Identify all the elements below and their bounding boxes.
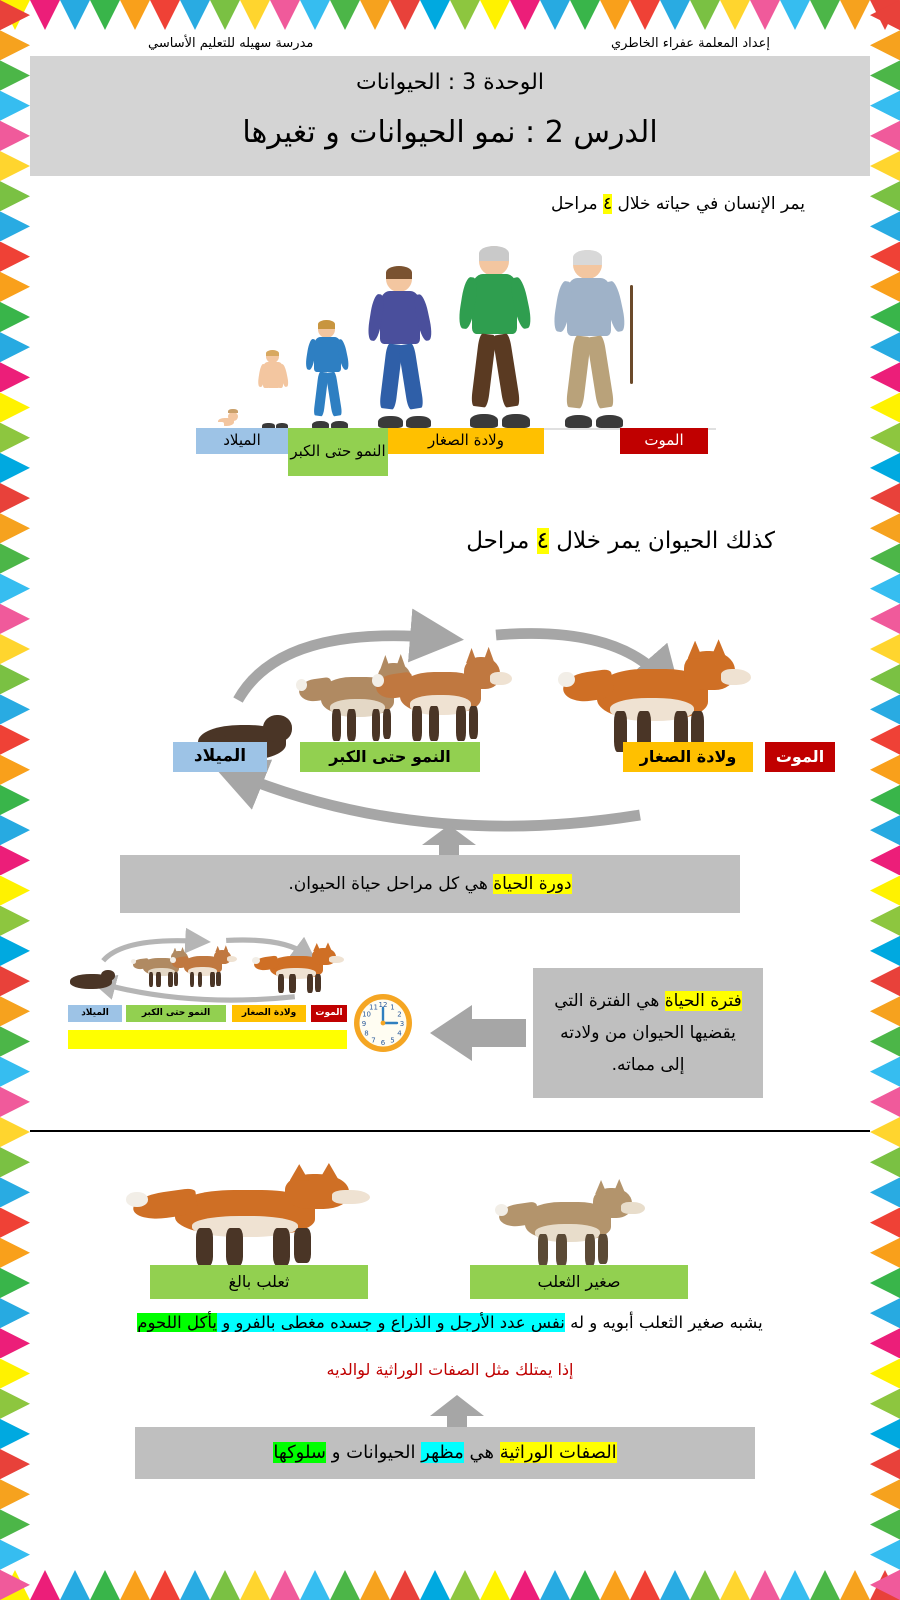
border-triangle: [870, 91, 900, 121]
clock-icon: 121234567891011: [352, 992, 414, 1054]
border-triangle: [0, 121, 30, 151]
life-cycle-rest: هي كل مراحل حياة الحيوان.: [288, 874, 493, 894]
border-triangle: [330, 1570, 360, 1600]
border-triangle: [870, 1358, 900, 1388]
chip-label: ولادة الصغار: [640, 748, 737, 766]
human-intro-before: يمر الإنسان في حياته خلال: [612, 194, 805, 214]
svg-text:1: 1: [390, 1004, 394, 1012]
border-triangle: [600, 1570, 630, 1600]
life-span-definition-box: فترة الحياة هي الفترة التي يقضيها الحيوا…: [533, 968, 763, 1098]
title-banner: الوحدة 3 : الحيوانات الدرس 2 : نمو الحيو…: [30, 56, 870, 176]
border-triangle: [870, 242, 900, 272]
border-triangle: [120, 0, 150, 30]
border-triangle: [870, 845, 900, 875]
chip-label: صغير الثعلب: [538, 1273, 621, 1291]
border-triangle: [780, 1570, 810, 1600]
border-triangle: [390, 0, 420, 30]
border-triangle: [870, 936, 900, 966]
border-triangle: [870, 423, 900, 453]
human-stage-chip-reproduction: ولادة الصغار: [388, 428, 544, 454]
border-triangle: [0, 755, 30, 785]
border-triangle: [810, 0, 840, 30]
border-triangle: [870, 694, 900, 724]
fox-stage-chip-growth: النمو حتى الكبر: [300, 742, 480, 772]
fox-stage-chip-birth: الميلاد: [173, 742, 267, 772]
human-intro-sentence: يمر الإنسان في حياته خلال ٤ مراحل: [551, 192, 805, 218]
life-cycle-term: دورة الحياة: [493, 874, 571, 894]
border-triangle: [0, 936, 30, 966]
border-triangle: [0, 181, 30, 211]
prepared-by-text: إعداد المعلمة عفراء الخاطري: [611, 36, 770, 51]
border-triangle: [870, 906, 900, 936]
svg-text:5: 5: [390, 1037, 394, 1045]
unit-title: الوحدة 3 : الحيوانات: [356, 70, 544, 95]
chip-label: النمو حتى الكبر: [142, 1008, 210, 1018]
border-band-top: [0, 0, 900, 30]
border-triangle: [360, 1570, 390, 1600]
border-triangle: [660, 0, 690, 30]
border-triangle: [540, 0, 570, 30]
border-triangle: [720, 0, 750, 30]
border-band-left: [0, 0, 30, 1600]
adult-fox-illustration: [154, 1150, 366, 1268]
border-triangle: [240, 1570, 270, 1600]
mini-stage-chip-reproduction: ولادة الصغار: [232, 1005, 306, 1022]
human-figure: [214, 370, 235, 430]
chip-label: الميلاد: [194, 747, 246, 767]
border-triangle: [0, 845, 30, 875]
border-triangle: [870, 181, 900, 211]
human-figure: [451, 246, 515, 430]
clock-face: 121234567891011: [352, 992, 414, 1054]
border-triangle: [180, 0, 210, 30]
border-band-bottom: [0, 1570, 900, 1600]
border-triangle: [0, 1570, 30, 1600]
border-triangle: [270, 0, 300, 30]
border-triangle: [0, 815, 30, 845]
border-triangle: [420, 1570, 450, 1600]
border-triangle: [870, 453, 900, 483]
border-triangle: [870, 60, 900, 90]
border-triangle: [300, 1570, 330, 1600]
border-triangle: [0, 211, 30, 241]
border-triangle: [540, 1570, 570, 1600]
border-triangle: [870, 1238, 900, 1268]
border-triangle: [840, 0, 870, 30]
border-triangle: [870, 785, 900, 815]
border-triangle: [870, 1147, 900, 1177]
border-triangle: [90, 1570, 120, 1600]
life-span-term: فترة الحياة: [665, 991, 742, 1011]
border-triangle: [810, 1570, 840, 1600]
border-triangle: [870, 1208, 900, 1238]
border-triangle: [150, 1570, 180, 1600]
border-triangle: [0, 1208, 30, 1238]
adult-fox-label: ثعلب بالغ: [150, 1265, 368, 1299]
border-triangle: [90, 0, 120, 30]
border-triangle: [0, 725, 30, 755]
border-triangle: [420, 0, 450, 30]
border-triangle: [0, 242, 30, 272]
border-triangle: [0, 362, 30, 392]
border-triangle: [870, 1117, 900, 1147]
mini-stage-chip-death: الموت: [311, 1005, 347, 1022]
border-triangle: [870, 392, 900, 422]
mini-adult-fox: [262, 936, 342, 994]
fox-cub-illustration: [512, 1168, 642, 1268]
worksheet-page: إعداد المعلمة عفراء الخاطري مدرسة سهيله …: [0, 0, 900, 1600]
border-triangle: [570, 1570, 600, 1600]
border-triangle: [870, 634, 900, 664]
border-triangle: [690, 0, 720, 30]
border-triangle: [870, 725, 900, 755]
border-triangle: [270, 1570, 300, 1600]
juvenile-fox-2: [388, 635, 510, 743]
animal-intro-before: كذلك الحيوان يمر خلال: [549, 528, 775, 554]
human-figure: [546, 250, 609, 430]
border-triangle: [600, 0, 630, 30]
compare-seg-2: نفس عدد الأرجل و الذراع و جسده مغطى بالف…: [217, 1313, 565, 1332]
border-band-right: [870, 0, 900, 1600]
svg-text:10: 10: [362, 1011, 371, 1019]
border-triangle: [0, 0, 30, 30]
border-triangle: [870, 1057, 900, 1087]
border-triangle: [0, 483, 30, 513]
border-triangle: [870, 996, 900, 1026]
inherited-traits-definition-box: الصفات الوراثية هي مظهر الحيوانات و سلوك…: [135, 1427, 755, 1479]
mini-juvenile-fox-2: [178, 940, 236, 988]
border-triangle: [0, 1268, 30, 1298]
school-name-text: مدرسة سهيله للتعليم الأساسي: [148, 36, 313, 51]
svg-text:8: 8: [364, 1030, 368, 1038]
border-triangle: [780, 0, 810, 30]
svg-text:6: 6: [381, 1039, 386, 1047]
border-triangle: [0, 392, 30, 422]
border-triangle: [0, 604, 30, 634]
trait-conclusion-note: إذا يمتلك مثل الصفات الوراثية لوالديه: [30, 1360, 870, 1379]
svg-text:7: 7: [371, 1037, 375, 1045]
chip-label: الموت: [776, 748, 824, 766]
border-triangle: [450, 1570, 480, 1600]
border-triangle: [0, 30, 30, 60]
border-triangle: [210, 0, 240, 30]
border-triangle: [0, 453, 30, 483]
border-triangle: [0, 1147, 30, 1177]
lesson-title: الدرس 2 : نمو الحيوانات و تغيرها: [242, 115, 657, 150]
red-note-text: إذا يمتلك مثل الصفات الوراثية لوالديه: [326, 1360, 573, 1379]
border-triangle: [0, 1026, 30, 1056]
border-triangle: [870, 1026, 900, 1056]
border-triangle: [0, 1358, 30, 1388]
animal-intro-sentence: كذلك الحيوان يمر خلال ٤ مراحل: [466, 528, 775, 554]
border-triangle: [0, 272, 30, 302]
fox-cub-label: صغير الثعلب: [470, 1265, 688, 1299]
trait-comparison-sentence: يشبه صغير الثعلب أبويه و له نفس عدد الأر…: [30, 1313, 870, 1332]
border-triangle: [30, 1570, 60, 1600]
border-triangle: [0, 996, 30, 1026]
compare-seg-1: يشبه صغير الثعلب أبويه و له: [565, 1313, 763, 1332]
chip-label: الموت: [644, 432, 683, 449]
chip-label: الموت: [315, 1008, 342, 1018]
border-triangle: [870, 604, 900, 634]
fox-stage-chip-reproduction: ولادة الصغار: [623, 742, 753, 772]
border-triangle: [330, 0, 360, 30]
border-triangle: [0, 1419, 30, 1449]
border-triangle: [630, 0, 660, 30]
worksheet-content: إعداد المعلمة عفراء الخاطري مدرسة سهيله …: [30, 30, 870, 1570]
border-triangle: [0, 664, 30, 694]
arrow-left-life-span: [430, 1005, 526, 1061]
border-triangle: [210, 1570, 240, 1600]
border-triangle: [0, 1087, 30, 1117]
border-triangle: [60, 0, 90, 30]
border-triangle: [870, 966, 900, 996]
border-triangle: [0, 91, 30, 121]
life-span-line1-rest: هي الفترة التي: [554, 991, 664, 1011]
human-figure: [301, 320, 340, 430]
border-triangle: [870, 1177, 900, 1207]
border-triangle: [0, 906, 30, 936]
border-triangle: [870, 302, 900, 332]
border-triangle: [510, 1570, 540, 1600]
chip-label: ولادة الصغار: [242, 1008, 296, 1018]
border-triangle: [870, 543, 900, 573]
border-triangle: [870, 1268, 900, 1298]
traits-mid-2: الحيوانات و: [326, 1442, 421, 1463]
border-triangle: [60, 1570, 90, 1600]
chip-label: الميلاد: [81, 1008, 109, 1018]
border-triangle: [0, 151, 30, 181]
svg-text:9: 9: [362, 1020, 366, 1028]
border-triangle: [0, 1509, 30, 1539]
border-triangle: [870, 272, 900, 302]
border-triangle: [870, 513, 900, 543]
border-triangle: [0, 423, 30, 453]
border-triangle: [870, 815, 900, 845]
border-triangle: [0, 875, 30, 905]
border-triangle: [840, 1570, 870, 1600]
life-span-line2: يقضيها الحيوان من ولادته: [560, 1017, 736, 1049]
border-triangle: [0, 1298, 30, 1328]
border-triangle: [0, 1328, 30, 1358]
border-triangle: [870, 1389, 900, 1419]
chip-label: ثعلب بالغ: [229, 1273, 290, 1291]
life-span-bar: [68, 1030, 347, 1049]
border-triangle: [180, 1570, 210, 1600]
human-figure: [254, 350, 282, 430]
border-triangle: [570, 0, 600, 30]
border-triangle: [750, 0, 780, 30]
border-triangle: [870, 1509, 900, 1539]
border-triangle: [0, 694, 30, 724]
traits-term-behavior: سلوكها: [273, 1442, 326, 1463]
fox-cub-photo: [512, 1168, 642, 1268]
border-triangle: [660, 1570, 690, 1600]
border-triangle: [0, 1389, 30, 1419]
border-triangle: [870, 1298, 900, 1328]
border-triangle: [0, 1177, 30, 1207]
border-triangle: [630, 1570, 660, 1600]
animal-stage-count: ٤: [537, 528, 549, 554]
compare-seg-3: يأكل اللحوم: [137, 1313, 217, 1332]
border-triangle: [750, 1570, 780, 1600]
svg-text:3: 3: [400, 1020, 404, 1028]
border-triangle: [0, 1238, 30, 1268]
border-triangle: [480, 1570, 510, 1600]
border-triangle: [240, 0, 270, 30]
adult-fox: [580, 625, 748, 755]
svg-text:11: 11: [369, 1004, 378, 1012]
border-triangle: [390, 1570, 420, 1600]
border-triangle: [870, 483, 900, 513]
animal-intro-after: مراحل: [466, 528, 536, 554]
border-triangle: [870, 1328, 900, 1358]
adult-fox-photo: [154, 1150, 366, 1268]
border-triangle: [0, 543, 30, 573]
border-triangle: [0, 1449, 30, 1479]
border-triangle: [150, 0, 180, 30]
traits-mid-1: هي: [464, 1442, 500, 1463]
border-triangle: [870, 151, 900, 181]
border-triangle: [450, 0, 480, 30]
border-triangle: [0, 785, 30, 815]
human-stage-count: ٤: [603, 194, 612, 214]
border-triangle: [30, 0, 60, 30]
border-triangle: [870, 1449, 900, 1479]
border-triangle: [0, 634, 30, 664]
border-triangle: [870, 211, 900, 241]
human-intro-after: مراحل: [551, 194, 603, 214]
chip-label: ولادة الصغار: [428, 432, 504, 449]
border-triangle: [870, 30, 900, 60]
border-triangle: [720, 1570, 750, 1600]
border-triangle: [0, 332, 30, 362]
border-triangle: [120, 1570, 150, 1600]
border-triangle: [0, 1479, 30, 1509]
border-triangle: [0, 302, 30, 332]
mini-fox-life-cycle-illustration: [66, 928, 352, 1006]
border-triangle: [870, 574, 900, 604]
border-triangle: [870, 0, 900, 30]
border-triangle: [870, 875, 900, 905]
border-triangle: [480, 0, 510, 30]
border-triangle: [870, 1087, 900, 1117]
mini-stage-chip-birth: الميلاد: [68, 1005, 122, 1022]
border-triangle: [870, 1419, 900, 1449]
border-triangle: [870, 362, 900, 392]
chip-label: النمو حتى الكبر: [290, 443, 385, 460]
svg-text:4: 4: [397, 1030, 402, 1038]
human-life-stages-illustration: [196, 230, 716, 430]
border-triangle: [510, 0, 540, 30]
border-triangle: [870, 1479, 900, 1509]
mini-newborn-fox: [70, 962, 116, 994]
border-triangle: [360, 0, 390, 30]
border-triangle: [870, 664, 900, 694]
mini-stage-chip-growth: النمو حتى الكبر: [126, 1005, 226, 1022]
border-triangle: [870, 121, 900, 151]
traits-term-appearance: مظهر: [421, 1442, 464, 1463]
svg-text:2: 2: [397, 1011, 401, 1019]
traits-term: الصفات الوراثية: [500, 1442, 617, 1463]
border-triangle: [0, 513, 30, 543]
border-triangle: [0, 60, 30, 90]
human-stage-chip-death: الموت: [620, 428, 708, 454]
border-triangle: [0, 574, 30, 604]
border-triangle: [0, 1117, 30, 1147]
human-stage-chip-growth: النمو حتى الكبر: [288, 428, 388, 476]
life-cycle-definition-box: دورة الحياة هي كل مراحل حياة الحيوان.: [120, 855, 740, 913]
chip-label: النمو حتى الكبر: [329, 748, 450, 766]
human-figure: [361, 266, 418, 430]
border-triangle: [0, 1540, 30, 1570]
border-triangle: [870, 755, 900, 785]
life-span-line3: إلى مماته.: [612, 1049, 685, 1081]
border-triangle: [870, 1570, 900, 1600]
border-triangle: [870, 332, 900, 362]
page-header: إعداد المعلمة عفراء الخاطري مدرسة سهيله …: [30, 30, 870, 56]
human-stage-chip-birth: الميلاد: [196, 428, 288, 454]
chip-label: الميلاد: [223, 432, 261, 449]
border-triangle: [0, 1057, 30, 1087]
border-triangle: [870, 1540, 900, 1570]
fox-stage-chip-death: الموت: [765, 742, 835, 772]
border-triangle: [690, 1570, 720, 1600]
section-divider: [30, 1130, 870, 1132]
border-triangle: [0, 966, 30, 996]
fox-life-cycle-illustration: [160, 595, 760, 845]
border-triangle: [300, 0, 330, 30]
